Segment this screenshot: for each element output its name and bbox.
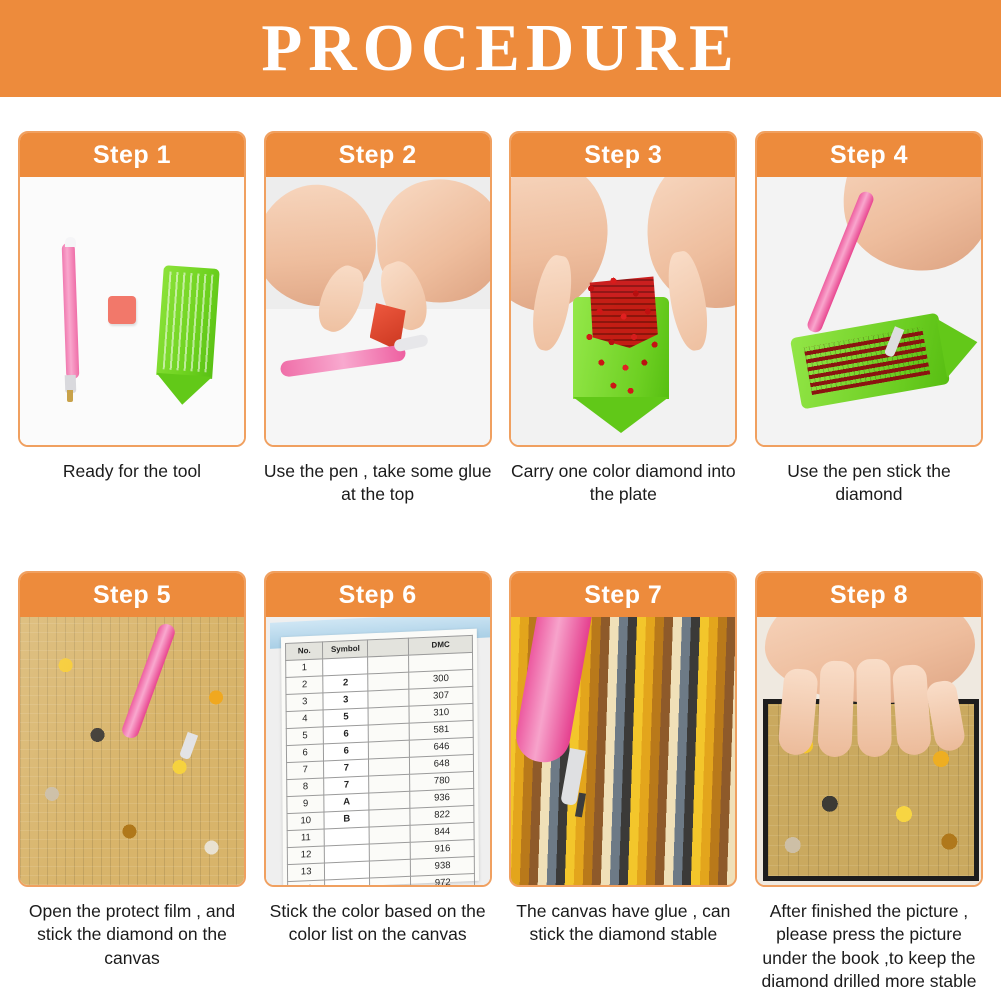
chart-table: No. Symbol DMC 1 <box>285 635 475 885</box>
row-symbol <box>324 827 369 846</box>
step-4-frame: Step 4 <box>755 131 983 447</box>
row-no: 6 <box>286 744 324 763</box>
step-card-7: Step 7 The canvas have glue , can stick … <box>509 571 737 993</box>
step-7-image <box>511 617 735 885</box>
step-8-image <box>757 617 981 885</box>
wax-block-icon <box>108 296 136 324</box>
color-chart-table: No. Symbol DMC 1 <box>285 635 475 885</box>
row-symbol: 2 <box>323 674 368 693</box>
row-no: 4 <box>286 710 324 729</box>
step-1-image <box>20 177 244 445</box>
row-swatch <box>369 808 410 827</box>
row-swatch <box>369 842 410 861</box>
col-blank <box>367 638 408 657</box>
row-swatch <box>369 859 410 878</box>
row-swatch <box>368 706 409 725</box>
step-card-3: Step 3 Carry one color diamond <box>509 131 737 507</box>
row-no: 13 <box>287 863 325 882</box>
step-2-title: Step 2 <box>266 133 490 177</box>
step-6-caption: Stick the color based on the color list … <box>262 900 494 947</box>
row-symbol <box>324 844 369 863</box>
row-no: 3 <box>286 693 324 712</box>
row-symbol: 6 <box>323 725 368 744</box>
row-symbol <box>324 861 369 880</box>
step-1-frame: Step 1 <box>18 131 246 447</box>
step-2-image <box>266 177 490 445</box>
step-8-frame: Step 8 <box>755 571 983 887</box>
step-5-image <box>20 617 244 885</box>
row-swatch <box>369 791 410 810</box>
row-swatch <box>368 757 409 776</box>
row-symbol <box>323 657 368 676</box>
pen-cap-icon <box>65 237 76 247</box>
row-no: 11 <box>287 829 325 848</box>
step-card-5: Step 5 Open the protect film , and stick… <box>18 571 246 993</box>
step-5-caption: Open the protect film , and stick the di… <box>16 900 248 970</box>
step-8-title: Step 8 <box>757 573 981 617</box>
step-card-1: Step 1 Ready for the tool <box>18 131 246 507</box>
pink-pen-icon <box>279 344 406 377</box>
row-no: 9 <box>287 795 325 814</box>
steps-grid: Step 1 Ready for the tool <box>0 97 1001 1001</box>
row-swatch <box>368 723 409 742</box>
step-4-title: Step 4 <box>757 133 981 177</box>
col-symbol: Symbol <box>323 640 368 659</box>
pink-pen-icon <box>62 243 80 379</box>
row-swatch <box>368 689 409 708</box>
finger-4-icon <box>892 664 932 756</box>
step-card-8: Step 8 After finished the pict <box>755 571 983 993</box>
pink-pen-icon <box>805 190 875 335</box>
row-swatch <box>369 876 410 885</box>
row-dmc: 972 <box>411 873 475 885</box>
row-swatch <box>368 655 409 674</box>
step-card-2: Step 2 Use the <box>264 131 492 507</box>
row-swatch <box>369 825 410 844</box>
row-symbol: A <box>324 793 369 812</box>
protective-film-icon <box>20 617 244 885</box>
row-no: 7 <box>286 761 324 780</box>
step-2-caption: Use the pen , take some glue at the top <box>262 460 494 507</box>
row-no: 1 <box>285 659 323 678</box>
row-no: 12 <box>287 846 325 865</box>
steps-row-2: Step 5 Open the protect film , and stick… <box>0 571 1001 993</box>
step-7-frame: Step 7 <box>509 571 737 887</box>
steps-row-1: Step 1 Ready for the tool <box>0 131 1001 507</box>
step-3-caption: Carry one color diamond into the plate <box>507 460 739 507</box>
row-no: 14 <box>287 880 325 885</box>
row-symbol: 5 <box>323 708 368 727</box>
step-8-caption: After finished the picture , please pres… <box>753 900 985 993</box>
step-2-frame: Step 2 <box>264 131 492 447</box>
step-card-6: Step 6 No. Symbol <box>264 571 492 993</box>
step-1-title: Step 1 <box>20 133 244 177</box>
step-3-title: Step 3 <box>511 133 735 177</box>
step-6-frame: Step 6 No. Symbol <box>264 571 492 887</box>
col-no: No. <box>285 642 323 661</box>
row-symbol: B <box>324 810 369 829</box>
step-4-caption: Use the pen stick the diamond <box>753 460 985 507</box>
row-no: 5 <box>286 727 324 746</box>
step-4-image <box>757 177 981 445</box>
row-swatch <box>368 740 409 759</box>
step-6-image: No. Symbol DMC 1 <box>266 617 490 885</box>
step-5-title: Step 5 <box>20 573 244 617</box>
step-6-title: Step 6 <box>266 573 490 617</box>
header-banner: PROCEDURE <box>0 0 1001 97</box>
row-symbol: 3 <box>323 691 368 710</box>
row-swatch <box>369 774 410 793</box>
row-swatch <box>368 672 409 691</box>
row-symbol: 7 <box>324 759 369 778</box>
step-1-caption: Ready for the tool <box>16 460 248 483</box>
scattered-diamonds-icon <box>579 273 665 401</box>
step-3-frame: Step 3 <box>509 131 737 447</box>
procedure-infographic: PROCEDURE Step 1 <box>0 0 1001 1001</box>
finger-2-icon <box>817 660 854 757</box>
row-no: 8 <box>286 778 324 797</box>
step-card-4: Step 4 Use the pen stick the diamond <box>755 131 983 507</box>
row-no: 2 <box>285 676 323 695</box>
step-7-caption: The canvas have glue , can stick the dia… <box>507 900 739 947</box>
step-7-title: Step 7 <box>511 573 735 617</box>
row-no: 10 <box>287 812 325 831</box>
pen-nib-icon <box>67 390 73 402</box>
page-title: PROCEDURE <box>261 15 739 82</box>
step-3-image <box>511 177 735 445</box>
finger-3-icon <box>856 659 892 758</box>
row-symbol <box>325 878 370 885</box>
step-5-frame: Step 5 <box>18 571 246 887</box>
row-symbol: 7 <box>324 776 369 795</box>
row-symbol: 6 <box>323 742 368 761</box>
tray-grooves-icon <box>163 272 216 373</box>
